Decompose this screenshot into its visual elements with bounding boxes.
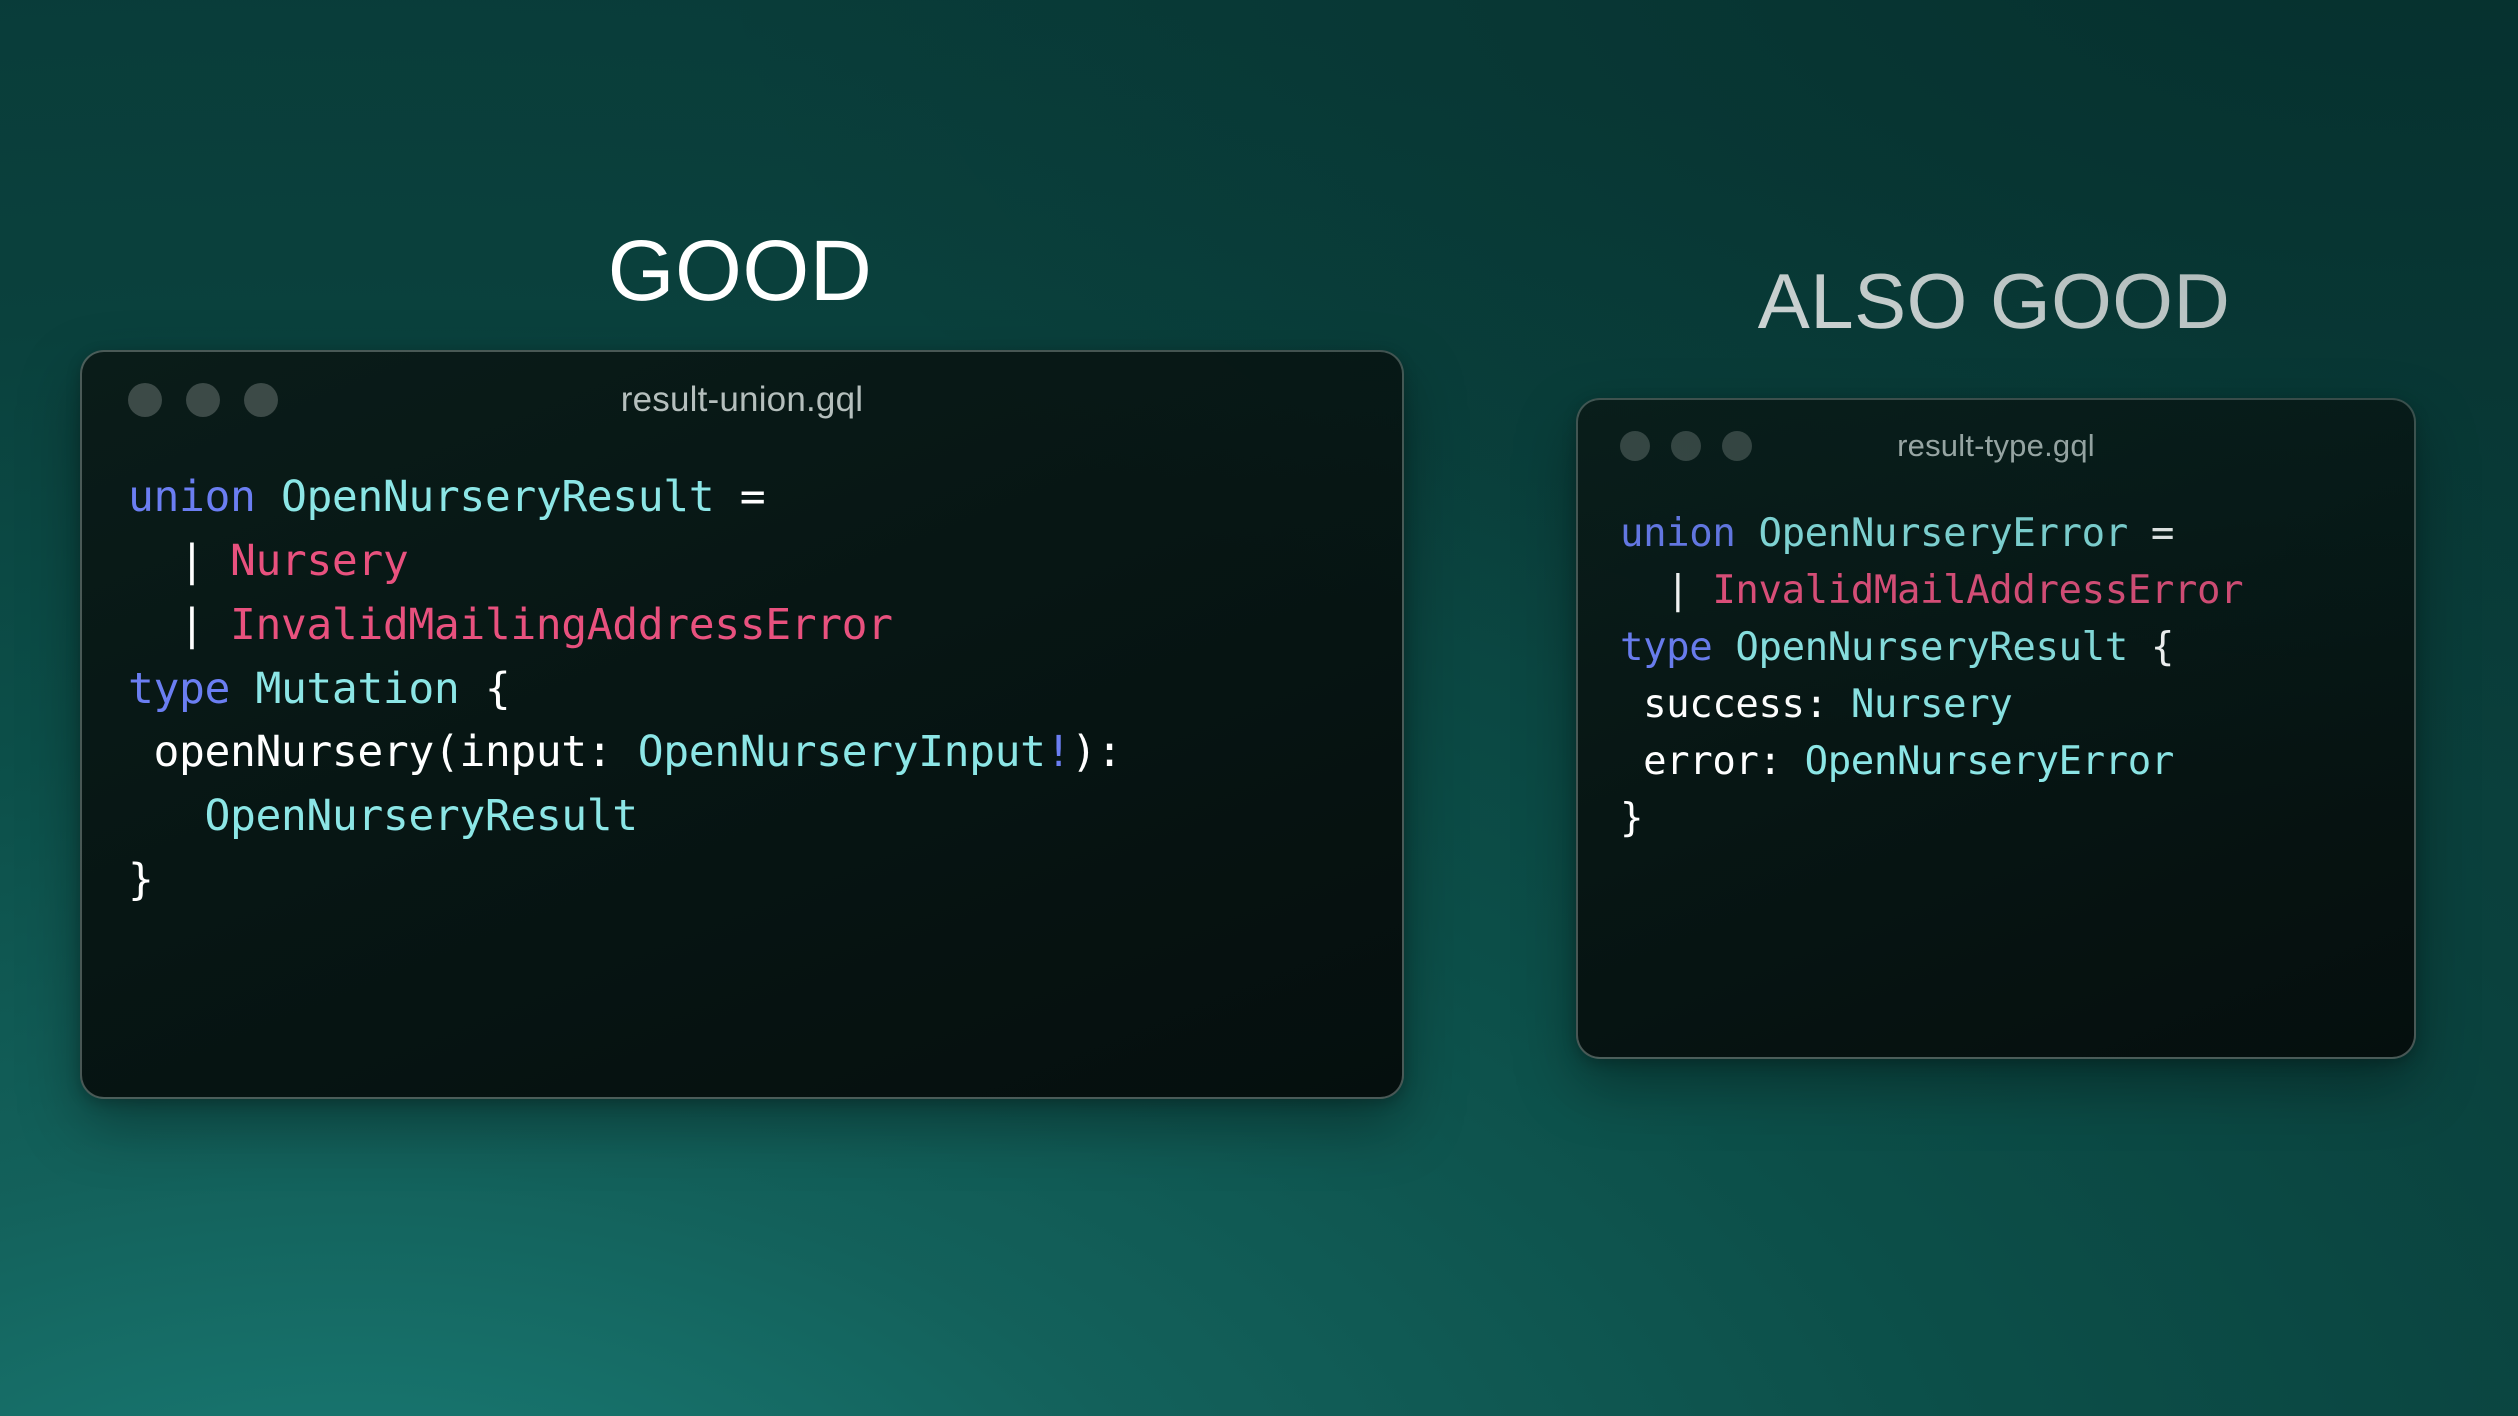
code-block-result-type[interactable]: union OpenNurseryError = | InvalidMailAd…	[1578, 492, 2414, 848]
window-filename: result-union.gql	[82, 380, 1402, 420]
code-token-plain: =	[2128, 511, 2174, 556]
code-token-err: InvalidMailingAddressError	[230, 600, 893, 650]
maximize-dot-icon[interactable]	[244, 383, 278, 417]
code-line: union OpenNurseryError =	[1620, 506, 2372, 563]
code-token-plain	[1712, 625, 1735, 670]
traffic-lights	[128, 383, 278, 417]
code-token-plain: }	[1620, 796, 1643, 841]
maximize-dot-icon[interactable]	[1722, 431, 1752, 461]
close-dot-icon[interactable]	[128, 383, 162, 417]
code-token-type: OpenNurseryError	[1759, 511, 2128, 556]
code-token-plain: {	[459, 664, 510, 714]
code-token-type: OpenNurseryResult	[281, 472, 714, 522]
code-token-pipe: |	[128, 600, 230, 650]
code-token-err: Nursery	[230, 536, 408, 586]
code-token-pipe: |	[1620, 568, 1712, 613]
code-window-result-type[interactable]: result-type.gql union OpenNurseryError =…	[1576, 398, 2416, 1059]
code-line: | InvalidMailAddressError	[1620, 563, 2372, 620]
code-token-plain	[230, 664, 256, 714]
code-token-plain	[255, 472, 281, 522]
code-token-kw: union	[1620, 511, 1735, 556]
slide-canvas: GOOD result-union.gql union OpenNurseryR…	[0, 0, 2518, 1416]
minimize-dot-icon[interactable]	[186, 383, 220, 417]
code-token-plain: error:	[1620, 739, 1805, 784]
code-line: OpenNurseryResult	[128, 785, 1356, 849]
code-line: success: Nursery	[1620, 677, 2372, 734]
code-token-plain: openNursery(input:	[128, 727, 638, 777]
code-line: type OpenNurseryResult {	[1620, 620, 2372, 677]
minimize-dot-icon[interactable]	[1671, 431, 1701, 461]
panel-heading-good: GOOD	[80, 228, 1400, 314]
window-titlebar: result-type.gql	[1578, 400, 2414, 492]
code-token-kw: union	[128, 472, 255, 522]
code-token-type: OpenNurseryInput	[638, 727, 1046, 777]
code-token-kw: type	[128, 664, 230, 714]
code-line: }	[1620, 791, 2372, 848]
code-token-type: OpenNurseryResult	[204, 791, 637, 841]
code-token-type: OpenNurseryError	[1805, 739, 2174, 784]
code-block-result-union[interactable]: union OpenNurseryResult = | Nursery | In…	[82, 448, 1402, 913]
code-token-err: InvalidMailAddressError	[1712, 568, 2243, 613]
code-token-plain: success:	[1620, 682, 1851, 727]
code-token-plain	[128, 791, 204, 841]
code-window-result-union[interactable]: result-union.gql union OpenNurseryResult…	[80, 350, 1404, 1099]
code-line: | InvalidMailingAddressError	[128, 594, 1356, 658]
code-token-plain: ):	[1071, 727, 1122, 777]
code-token-kw: !	[1046, 727, 1072, 777]
close-dot-icon[interactable]	[1620, 431, 1650, 461]
code-line: error: OpenNurseryError	[1620, 734, 2372, 791]
code-token-type: Mutation	[255, 664, 459, 714]
code-line: }	[128, 849, 1356, 913]
window-titlebar: result-union.gql	[82, 352, 1402, 448]
code-token-plain: {	[2128, 625, 2174, 670]
code-token-pipe: |	[128, 536, 230, 586]
code-line: openNursery(input: OpenNurseryInput!):	[128, 721, 1356, 785]
panel-heading-also-good: ALSO GOOD	[1576, 262, 2412, 340]
code-line: union OpenNurseryResult =	[128, 466, 1356, 530]
code-line: | Nursery	[128, 530, 1356, 594]
code-token-type: Nursery	[1851, 682, 2013, 727]
code-token-plain: }	[128, 855, 154, 905]
code-token-plain	[1735, 511, 1758, 556]
code-token-plain: =	[714, 472, 765, 522]
traffic-lights	[1620, 431, 1752, 461]
code-token-kw: type	[1620, 625, 1712, 670]
code-line: type Mutation {	[128, 658, 1356, 722]
code-token-type: OpenNurseryResult	[1735, 625, 2127, 670]
